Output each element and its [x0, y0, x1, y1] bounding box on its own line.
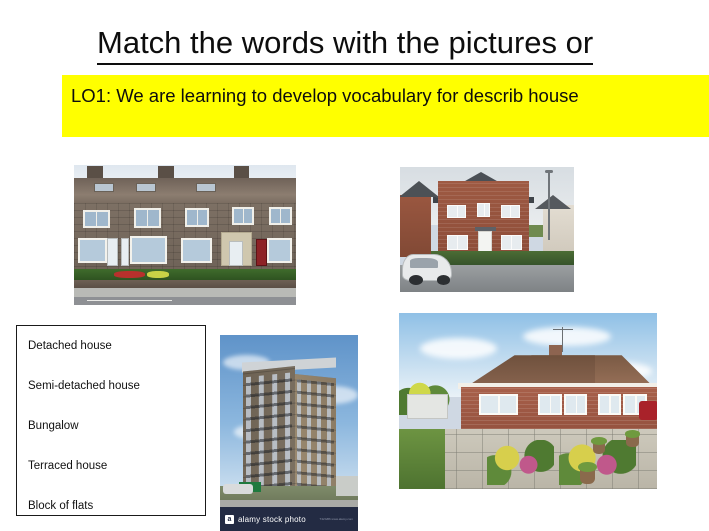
garage-door [407, 394, 448, 419]
parked-car [639, 401, 657, 420]
plant-pot [626, 436, 639, 447]
front-door [478, 231, 492, 252]
flower-bed [114, 271, 145, 278]
car-wheel [409, 275, 423, 285]
plant-pot [593, 443, 606, 454]
photo-detached-house [400, 167, 574, 292]
window [134, 208, 161, 228]
flower-bed [487, 440, 554, 486]
window [479, 394, 518, 415]
learning-objective-text: LO1: We are learning to develop vocabula… [71, 83, 709, 108]
car-wheel [437, 275, 451, 285]
window [83, 210, 110, 228]
neighbouring-house [400, 195, 431, 258]
photo-bungalow [399, 313, 657, 489]
word-bank-box: Detached house Semi-detached house Bunga… [16, 325, 206, 516]
word-item-semi-detached-house[interactable]: Semi-detached house [28, 379, 205, 393]
front-door [256, 239, 267, 266]
roof [74, 178, 296, 206]
terraced-scene [74, 165, 296, 305]
window [447, 205, 466, 219]
parked-cars [223, 484, 253, 494]
window [538, 394, 561, 415]
page-title: Match the words with the pictures or [97, 24, 593, 65]
cloud [420, 338, 497, 359]
window [185, 208, 209, 226]
window [477, 203, 491, 217]
front-door [121, 238, 130, 266]
bungalow-scene [399, 313, 657, 489]
window [447, 235, 468, 250]
alamy-watermark-reference: T42GB6 www.alamy.com [320, 517, 353, 521]
bay-window [78, 238, 107, 263]
bay-window [130, 236, 168, 264]
dormer-window [196, 183, 216, 191]
dormer-window [136, 183, 156, 191]
bay-window [181, 238, 212, 263]
word-item-block-of-flats[interactable]: Block of flats [28, 499, 205, 513]
detached-scene [400, 167, 574, 292]
front-door [229, 241, 242, 266]
bay-window [267, 238, 291, 263]
front-door [107, 238, 118, 266]
word-item-detached-house[interactable]: Detached house [28, 339, 205, 353]
lawn [399, 429, 445, 489]
photo-block-of-flats: a alamy stock photo T42GB6 www.alamy.com [220, 335, 358, 531]
street-lamp-icon [548, 170, 550, 240]
photo-terraced-houses [74, 165, 296, 305]
window [564, 394, 587, 415]
hedge [431, 251, 574, 266]
window [501, 235, 522, 250]
plant-pot [580, 470, 595, 484]
tv-aerial-icon [562, 327, 563, 352]
road [74, 297, 296, 305]
word-item-terraced-house[interactable]: Terraced house [28, 459, 205, 473]
window [501, 205, 520, 219]
alamy-logo-icon: a [225, 515, 234, 524]
word-item-bungalow[interactable]: Bungalow [28, 419, 205, 433]
alamy-watermark-bar: a alamy stock photo T42GB6 www.alamy.com [220, 507, 358, 531]
window [269, 207, 291, 225]
alamy-watermark-text: alamy stock photo [238, 515, 306, 524]
learning-objective-banner: LO1: We are learning to develop vocabula… [62, 75, 709, 137]
adjacent-building [336, 476, 358, 496]
flats-scene: a alamy stock photo T42GB6 www.alamy.com [220, 335, 358, 531]
dormer-window [94, 183, 114, 191]
window-grid [297, 380, 333, 501]
window [232, 207, 254, 225]
window [598, 394, 621, 415]
